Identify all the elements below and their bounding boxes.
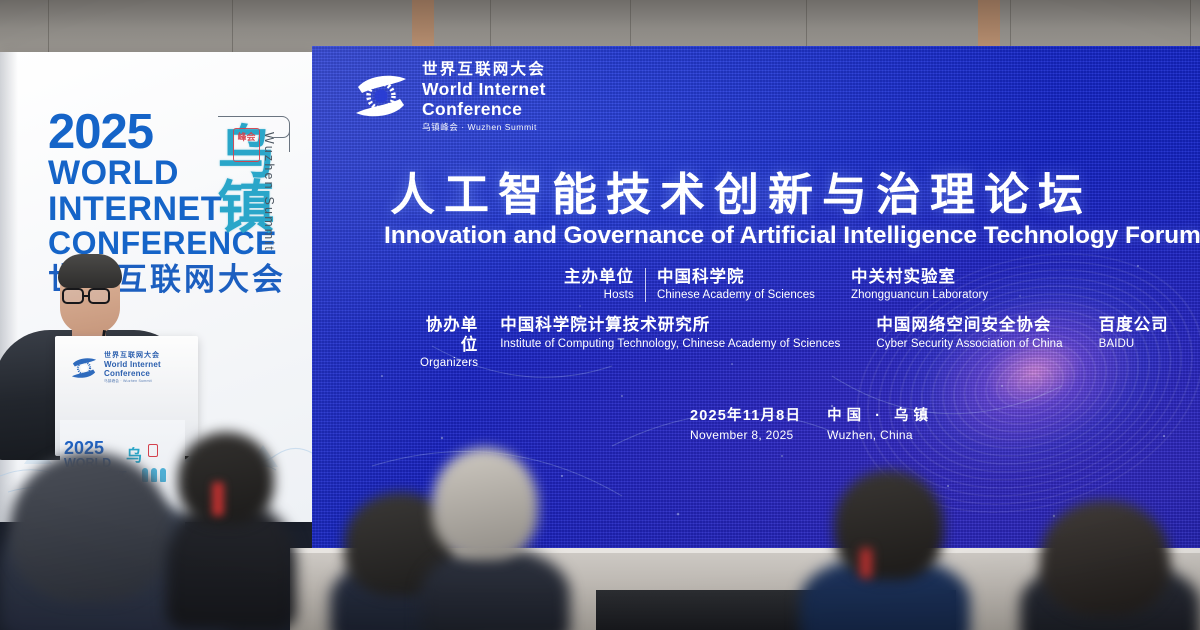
wic-logo-sub: 乌镇峰会 · Wuzhen Summit <box>422 123 546 132</box>
host-entity-1-cn: 中国科学院 <box>657 268 815 287</box>
podium-logo-cn: 世界互联网大会 <box>104 352 161 359</box>
lanyard <box>212 482 224 516</box>
list-item <box>10 452 170 602</box>
organizer-entity-1: 中国科学院计算技术研究所 Institute of Computing Tech… <box>500 316 840 350</box>
host-entity-1: 中国科学院 Chinese Academy of Sciences <box>657 268 815 302</box>
wic-logo: 世界互联网大会 World Internet Conference 乌镇峰会 ·… <box>350 60 546 131</box>
list-item <box>420 548 570 630</box>
list-item <box>1040 500 1170 616</box>
organizers-label-cn: 协办单位 <box>420 316 478 354</box>
banner-vertical-wuzhen-summit: Wuzhen Summit <box>262 132 276 272</box>
podium-logo-en2: Conference <box>104 370 161 378</box>
wic-logo-en1: World Internet <box>422 81 546 99</box>
hosts-label: 主办单位 Hosts <box>564 268 645 302</box>
list-item <box>834 470 944 580</box>
banner-seal-stamp: 峰会 <box>233 128 260 162</box>
forum-title-en: Innovation and Governance of Artificial … <box>384 222 1200 250</box>
organizer-entity-3-en: BAIDU <box>1099 338 1169 351</box>
screenshot-root: 2025 WORLD INTERNET CONFERENCE 世界互联网大会 乌… <box>0 0 1200 630</box>
organizer-entity-2-en: Cyber Security Association of China <box>876 338 1062 351</box>
podium-wic-logo: 世界互联网大会 World Internet Conference 乌镇峰会 ·… <box>69 352 161 384</box>
event-place: 中国 · 乌镇 Wuzhen, China <box>827 408 933 443</box>
eyeglasses-icon <box>62 288 84 304</box>
event-place-en: Wuzhen, China <box>827 428 933 442</box>
hosts-row: 主办单位 Hosts 中国科学院 Chinese Academy of Scie… <box>312 268 1200 302</box>
hosts-label-en: Hosts <box>564 289 634 302</box>
lanyard <box>860 548 872 578</box>
list-item <box>178 432 274 524</box>
podium-sign-seal <box>148 444 158 457</box>
organizer-entity-3: 百度公司 BAIDU <box>1099 316 1169 350</box>
organizers-label: 协办单位 Organizers <box>420 316 489 370</box>
organizer-entity-2: 中国网络空间安全协会 Cyber Security Association of… <box>876 316 1062 350</box>
event-date-cn: 2025年11月8日 <box>690 408 801 425</box>
wic-logo-cn: 世界互联网大会 <box>422 62 546 78</box>
event-date: 2025年11月8日 November 8, 2025 <box>690 408 801 443</box>
organizers-row: 协办单位 Organizers 中国科学院计算技术研究所 Institute o… <box>312 316 1200 370</box>
event-datetime-block: 2025年11月8日 November 8, 2025 中国 · 乌镇 Wuzh… <box>690 408 933 443</box>
organizer-entity-1-en: Institute of Computing Technology, Chine… <box>500 338 840 351</box>
organizations-block: 主办单位 Hosts 中国科学院 Chinese Academy of Scie… <box>312 268 1200 370</box>
host-entity-2-en: Zhongguancun Laboratory <box>851 289 988 302</box>
organizers-label-en: Organizers <box>420 357 478 370</box>
event-date-en: November 8, 2025 <box>690 428 801 442</box>
hosts-divider <box>645 268 646 302</box>
host-entity-2-cn: 中关村实验室 <box>851 268 988 287</box>
wic-swoosh-ring-logo-icon <box>350 65 412 127</box>
host-entity-1-en: Chinese Academy of Sciences <box>657 289 815 302</box>
host-entity-2: 中关村实验室 Zhongguancun Laboratory <box>851 268 988 302</box>
organizer-entity-2-cn: 中国网络空间安全协会 <box>876 316 1062 335</box>
organizer-entity-3-cn: 百度公司 <box>1099 316 1169 335</box>
forum-title-cn: 人工智能技术创新与治理论坛 <box>390 158 1200 223</box>
podium-logo-en1: World Internet <box>104 361 161 369</box>
organizer-entity-1-cn: 中国科学院计算技术研究所 <box>500 316 840 335</box>
podium-logo-sub: 乌镇峰会 · Wuzhen Summit <box>104 380 161 384</box>
list-item <box>432 448 538 560</box>
wic-logo-en2: Conference <box>422 101 546 119</box>
hosts-label-cn: 主办单位 <box>564 268 634 287</box>
event-place-cn: 中国 · 乌镇 <box>827 408 933 425</box>
podium-wic-logo-icon <box>69 353 99 383</box>
